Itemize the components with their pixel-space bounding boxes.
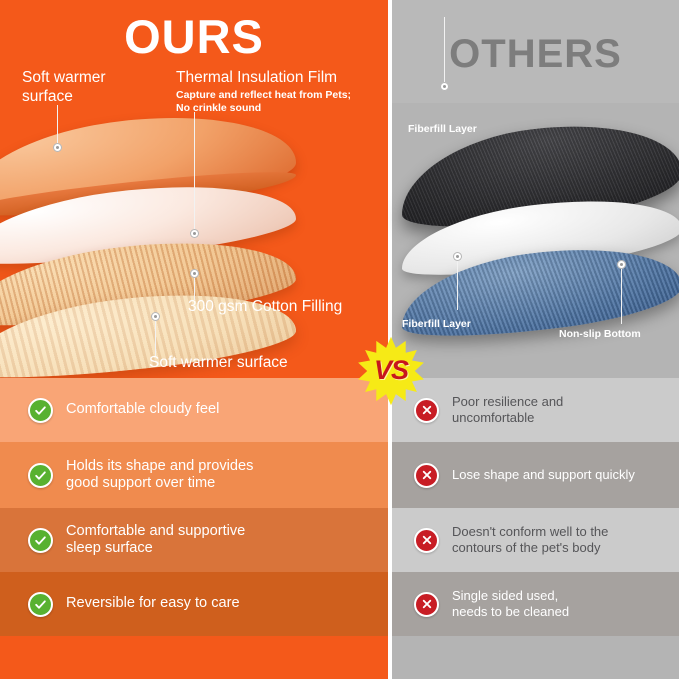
callout-dot-thermal <box>190 229 199 238</box>
annotation-fiberfill-bottom: Fiberfill Layer <box>402 318 471 331</box>
ours-feature-text: Comfortable cloudy feel <box>66 401 219 419</box>
others-drawback-text: Lose shape and support quickly <box>452 467 635 483</box>
vs-label: VS <box>356 336 426 406</box>
annotation-title: Soft warmer surface <box>149 354 379 373</box>
others-drawback-list: Poor resilience and uncomfortable Lose s… <box>392 378 679 679</box>
check-icon <box>28 398 53 423</box>
others-drawback-row: Doesn't conform well to the contours of … <box>392 508 679 572</box>
callout-line-thermal <box>194 112 195 232</box>
ours-feature-text: Holds its shape and provides good suppor… <box>66 458 253 493</box>
ours-feature-row: Reversible for easy to care <box>0 572 388 636</box>
callout-dot-fiberfill-top <box>440 82 449 91</box>
annotation-title: Soft warmer surface <box>22 69 172 107</box>
others-footer-strip <box>392 636 679 679</box>
cross-icon <box>414 528 439 553</box>
check-icon <box>28 463 53 488</box>
callout-line-fiberfill-top <box>444 17 445 84</box>
others-drawback-row: Poor resilience and uncomfortable <box>392 378 679 442</box>
callout-dot-cotton <box>190 269 199 278</box>
others-drawback-text: Doesn't conform well to the contours of … <box>452 524 608 556</box>
ours-footer-strip <box>0 636 388 679</box>
others-drawback-text: Single sided used, needs to be cleaned <box>452 588 569 620</box>
ours-feature-list: Comfortable cloudy feel Holds its shape … <box>0 378 388 679</box>
annotation-cotton-filling: 300 gsm Cotton Filling <box>188 298 388 317</box>
others-drawback-row: Single sided used, needs to be cleaned <box>392 572 679 636</box>
ours-feature-text: Comfortable and supportive sleep surface <box>66 523 245 558</box>
callout-line-soft-bottom <box>155 318 156 356</box>
ours-feature-row: Comfortable cloudy feel <box>0 378 388 442</box>
callout-line-soft-top <box>57 105 58 147</box>
annotation-fiberfill-top: Fiberfill Layer <box>408 123 477 136</box>
annotation-soft-warmer-top: Soft warmer surface <box>22 69 172 107</box>
callout-line-cotton <box>194 275 195 300</box>
ours-feature-row: Comfortable and supportive sleep surface <box>0 508 388 572</box>
cross-icon <box>414 592 439 617</box>
check-icon <box>28 592 53 617</box>
annotation-soft-warmer-bottom: Soft warmer surface <box>149 354 379 373</box>
annotation-nonslip-bottom: Non-slip Bottom <box>559 328 641 341</box>
check-icon <box>28 528 53 553</box>
others-drawback-text: Poor resilience and uncomfortable <box>452 394 563 426</box>
vs-badge: VS <box>356 336 426 406</box>
callout-dot-fiberfill-bottom <box>453 252 462 261</box>
ours-feature-text: Reversible for easy to care <box>66 595 240 613</box>
callout-line-fiberfill-bottom <box>457 258 458 310</box>
annotation-title: Thermal Insulation Film <box>176 69 388 88</box>
others-heading: OTHERS <box>392 32 679 76</box>
annotation-subtitle: Capture and reflect heat from Pets; No c… <box>176 89 388 115</box>
annotation-title: 300 gsm Cotton Filling <box>188 298 388 317</box>
callout-dot-soft-top <box>53 143 62 152</box>
others-drawback-row: Lose shape and support quickly <box>392 442 679 508</box>
callout-line-nonslip <box>621 266 622 324</box>
product-comparison-infographic: OURS Soft warmer surface Thermal Insulat… <box>0 0 679 679</box>
annotation-thermal-insulation-film: Thermal Insulation Film Capture and refl… <box>176 69 388 115</box>
ours-feature-row: Holds its shape and provides good suppor… <box>0 442 388 508</box>
ours-layer-illustration <box>0 120 296 365</box>
callout-dot-soft-bottom <box>151 312 160 321</box>
callout-dot-nonslip <box>617 260 626 269</box>
ours-panel: OURS Soft warmer surface Thermal Insulat… <box>0 0 388 679</box>
cross-icon <box>414 463 439 488</box>
others-panel: OTHERS Fiberfill Layer Fiberfill Layer N… <box>392 0 679 679</box>
ours-heading: OURS <box>0 10 388 64</box>
